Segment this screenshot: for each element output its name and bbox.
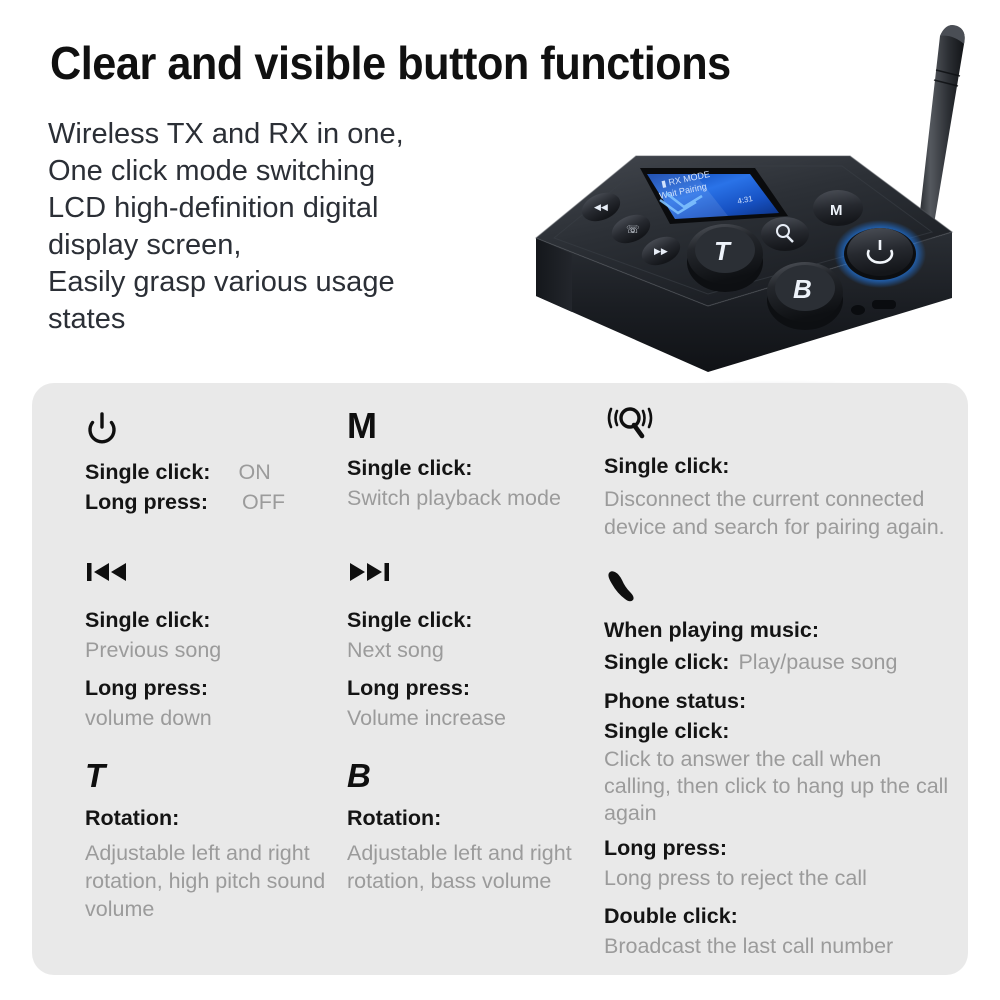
feature-power: Single click: ON Long press: OFF	[85, 411, 335, 517]
treble-knob-icon: T	[85, 757, 335, 797]
row-single-click-music: Single click: Play/pause song	[604, 647, 949, 677]
row-label: Double click:	[604, 901, 949, 931]
row-label: Single click:	[347, 605, 602, 635]
product-photo: ▮ RX MODE Wait Pairing 4:31 ◀◀ ☏ ▶▶	[520, 10, 990, 430]
row-label: Long press:	[604, 833, 949, 863]
svg-text:B: B	[793, 274, 812, 304]
row-label-music-header: When playing music:	[604, 615, 949, 645]
row-value: Volume increase	[347, 703, 602, 733]
mode-button: M	[813, 190, 863, 226]
power-button	[834, 220, 926, 288]
row-label: Long press:	[347, 673, 602, 703]
page-subtitle: Wireless TX and RX in one, One click mod…	[48, 116, 518, 338]
row-label: Rotation:	[347, 803, 602, 833]
row-value: volume down	[85, 703, 335, 733]
infographic-page: Clear and visible button functions Wirel…	[0, 0, 1000, 1000]
row-value: Adjustable left and right rotation, bass…	[347, 839, 602, 895]
device-port	[872, 300, 896, 309]
row-value: Previous song	[85, 635, 335, 665]
row-value: Play/pause song	[738, 647, 897, 677]
svg-text:▶▶: ▶▶	[654, 246, 668, 256]
row-value: Adjustable left and right rotation, high…	[85, 839, 335, 923]
phone-handset-icon	[604, 569, 949, 609]
feature-call: When playing music: Single click: Play/p…	[604, 569, 949, 961]
row-label: Single click:	[604, 716, 949, 746]
feature-pairing: Single click: Disconnect the current con…	[604, 403, 949, 541]
bass-knob-icon: B	[347, 757, 602, 797]
button-functions-panel: Single click: ON Long press: OFF S	[32, 383, 968, 975]
row-single-click: Single click: ON	[85, 457, 335, 487]
row-value: Disconnect the current connected device …	[604, 485, 949, 541]
pairing-search-button	[761, 217, 809, 251]
row-label: Long press:	[85, 487, 208, 517]
feature-next-track: Single click: Next song Long press: Volu…	[347, 559, 602, 733]
pairing-search-icon	[604, 403, 949, 443]
bass-knob: B	[767, 262, 843, 330]
power-icon	[85, 411, 335, 451]
row-value: Next song	[347, 635, 602, 665]
svg-text:◀◀: ◀◀	[594, 202, 608, 212]
previous-track-icon	[85, 559, 335, 599]
row-label: Single click:	[604, 451, 949, 481]
row-label: Long press:	[85, 673, 335, 703]
row-value: Broadcast the last call number	[604, 931, 949, 961]
row-label: Single click:	[85, 457, 210, 487]
treble-knob: T	[687, 224, 763, 292]
mode-button-icon: M	[347, 407, 602, 447]
feature-previous-track: Single click: Previous song Long press: …	[85, 559, 335, 733]
row-label: Single click:	[85, 605, 335, 635]
feature-mode: M Single click: Switch playback mode	[347, 407, 602, 513]
svg-text:T: T	[714, 236, 732, 266]
next-track-icon	[347, 559, 602, 599]
row-long-press: Long press: OFF	[85, 487, 335, 517]
feature-bass-knob: B Rotation: Adjustable left and right ro…	[347, 757, 602, 895]
row-value: Long press to reject the call	[604, 863, 949, 893]
row-label: Rotation:	[85, 803, 335, 833]
feature-treble-knob: T Rotation: Adjustable left and right ro…	[85, 757, 335, 923]
row-value: OFF	[242, 487, 285, 517]
row-label: Single click:	[347, 453, 602, 483]
row-label-phone-header: Phone status:	[604, 686, 949, 716]
row-value: ON	[238, 457, 270, 487]
row-value: Click to answer the call when calling, t…	[604, 746, 949, 827]
row-value: Switch playback mode	[347, 483, 602, 513]
row-label: Single click:	[604, 647, 729, 677]
svg-text:☏: ☏	[626, 224, 640, 236]
svg-text:M: M	[830, 202, 843, 219]
